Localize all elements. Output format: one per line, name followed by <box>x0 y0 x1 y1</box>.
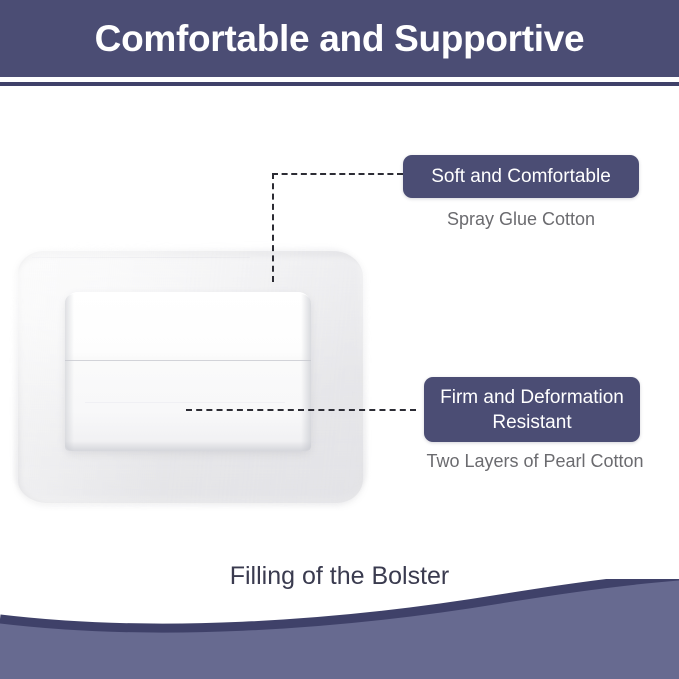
leader-line-horizontal-bottom <box>186 409 416 411</box>
cushion-inner-bottom-shade <box>65 441 311 451</box>
leader-line-horizontal-top <box>272 173 403 175</box>
footer-wave-decoration <box>0 579 679 679</box>
cushion-inner-right-shade <box>301 294 311 451</box>
leader-line-vertical-top <box>272 173 274 282</box>
cushion-seam-line <box>65 360 311 361</box>
header-bar: Comfortable and Supportive <box>0 0 679 77</box>
callout-badge-firm-and-deformation-resistant: Firm and Deformation Resistant <box>424 377 640 442</box>
callout-sublabel-two-layers-of-pearl-cotton: Two Layers of Pearl Cotton <box>410 450 660 472</box>
cushion-fold-line-top <box>32 257 250 258</box>
infographic-page: Comfortable and Supportive Soft and Comf… <box>0 0 679 679</box>
product-image <box>8 243 378 511</box>
callout-sublabel-spray-glue-cotton: Spray Glue Cotton <box>403 208 639 230</box>
page-title: Comfortable and Supportive <box>0 16 679 61</box>
header-divider <box>0 82 679 86</box>
cushion-fold-line-bottom <box>85 402 285 403</box>
cushion-inner-block <box>65 292 311 451</box>
cushion-inner-left-shade <box>65 294 74 451</box>
callout-badge-soft-and-comfortable: Soft and Comfortable <box>403 155 639 198</box>
